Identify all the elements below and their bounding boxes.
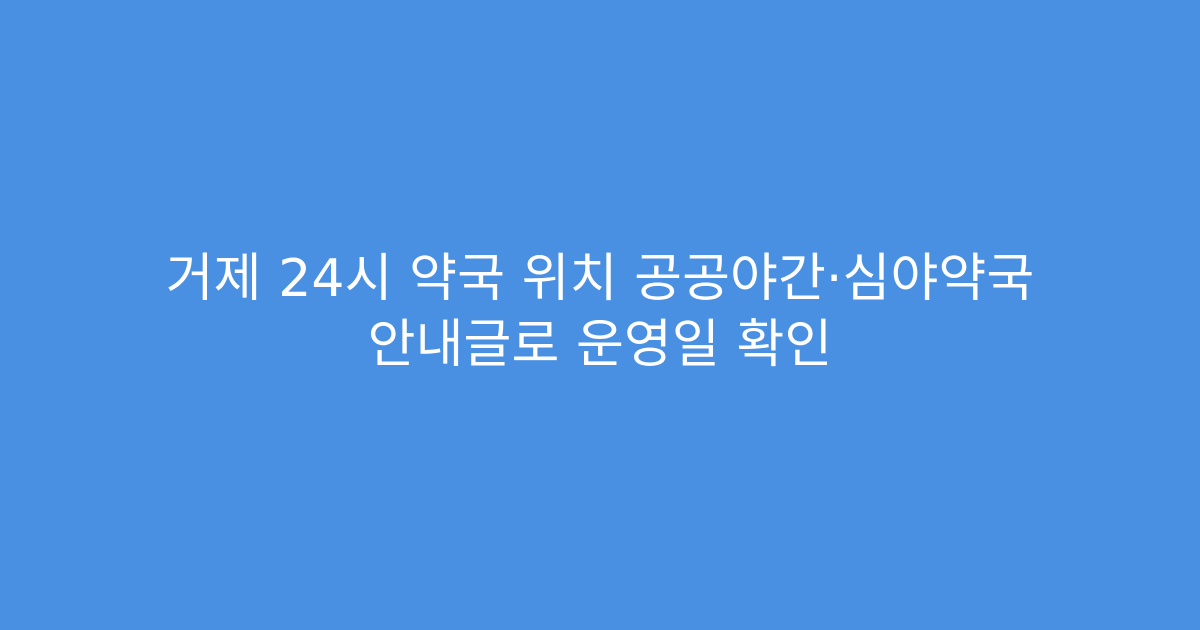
title-block: 거제 24시 약국 위치 공공야간·심야약국 안내글로 운영일 확인 [60,246,1140,378]
page-title: 거제 24시 약국 위치 공공야간·심야약국 안내글로 운영일 확인 [68,246,1132,378]
social-share-card: 거제 24시 약국 위치 공공야간·심야약국 안내글로 운영일 확인 [0,0,1200,630]
